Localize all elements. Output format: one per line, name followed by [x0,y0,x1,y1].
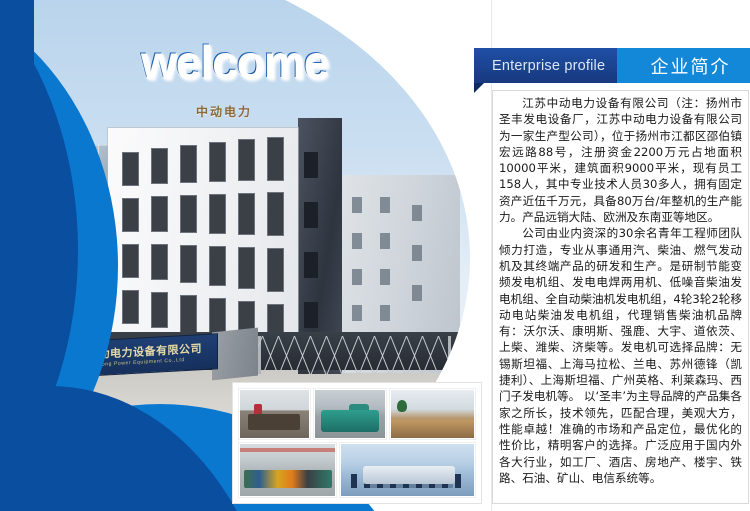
generator-workshop-photo [314,389,385,439]
office-reception-photo [390,389,475,439]
accordion-gate [258,336,453,374]
profile-paragraph-2: 公司由业内资深的30余名青年工程师团队倾力打造，专业从事通用汽、柴油、燃气发动机… [499,225,742,486]
ribbon-english-section: Enterprise profile [474,48,617,83]
photo-collage [232,382,482,504]
ribbon-chinese-label: 企业简介 [651,53,731,79]
profile-paragraph-1: 江苏中动电力设备有限公司（注：扬州市圣丰发电设备厂，江苏中动电力设备有限公司为一… [499,95,742,225]
section-header-ribbon: Enterprise profile 企业简介 [474,48,750,83]
welcome-heading: welcome [140,34,327,88]
ribbon-english-label: Enterprise profile [492,58,605,74]
collage-row-top [239,389,475,439]
roof-signage-label: 中动电力 [196,103,252,120]
company-profile-banner: 中动电力 江苏中动电力设备有限公司 Zhongdong Power Equipm… [0,0,750,511]
profile-text-frame: 江苏中动电力设备有限公司（注：扬州市圣丰发电设备厂，江苏中动电力设备有限公司为一… [492,90,749,504]
generator-warehouse-photo [239,443,336,497]
ribbon-fold-corner [474,83,484,93]
conference-room-photo [340,443,475,497]
office-meeting-photo [239,389,310,439]
left-visual-panel: 中动电力 江苏中动电力设备有限公司 Zhongdong Power Equipm… [0,0,491,511]
ribbon-chinese-section: 企业简介 [617,48,750,83]
profile-text-panel: Enterprise profile 企业简介 江苏中动电力设备有限公司（注：扬… [491,0,750,511]
collage-row-bottom [239,443,475,497]
profile-body-text: 江苏中动电力设备有限公司（注：扬州市圣丰发电设备厂，江苏中动电力设备有限公司为一… [499,95,742,486]
sign-plinth [212,328,258,381]
